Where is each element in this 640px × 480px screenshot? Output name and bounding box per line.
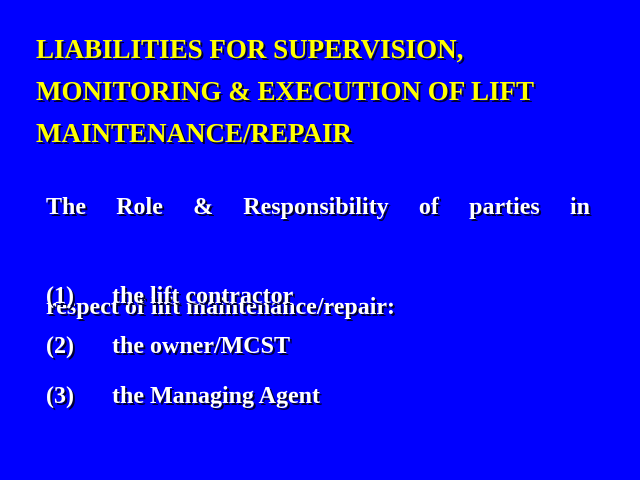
list-item-number: (1) bbox=[46, 283, 112, 310]
list-item: (2) the owner/MCST bbox=[46, 333, 606, 383]
title-line-3: MAINTENANCE/REPAIR bbox=[36, 112, 606, 154]
list-item: (1) the lift contractor bbox=[46, 283, 606, 333]
list-item-number: (2) bbox=[46, 333, 112, 360]
title-line-2: MONITORING & EXECUTION OF LIFT bbox=[36, 70, 606, 112]
slide-title: LIABILITIES FOR SUPERVISION, MONITORING … bbox=[36, 28, 606, 154]
presentation-slide: LIABILITIES FOR SUPERVISION, MONITORING … bbox=[0, 0, 640, 480]
list-item-label: the Managing Agent bbox=[112, 383, 320, 410]
list-item-label: the lift contractor bbox=[112, 283, 293, 310]
title-line-1: LIABILITIES FOR SUPERVISION, bbox=[36, 28, 606, 70]
numbered-list: (1) the lift contractor (2) the owner/MC… bbox=[46, 283, 606, 433]
lead-line-1: The Role & Responsibility of parties in bbox=[46, 182, 590, 282]
list-item-number: (3) bbox=[46, 383, 112, 410]
list-item-label: the owner/MCST bbox=[112, 333, 290, 360]
list-item: (3) the Managing Agent bbox=[46, 383, 606, 433]
